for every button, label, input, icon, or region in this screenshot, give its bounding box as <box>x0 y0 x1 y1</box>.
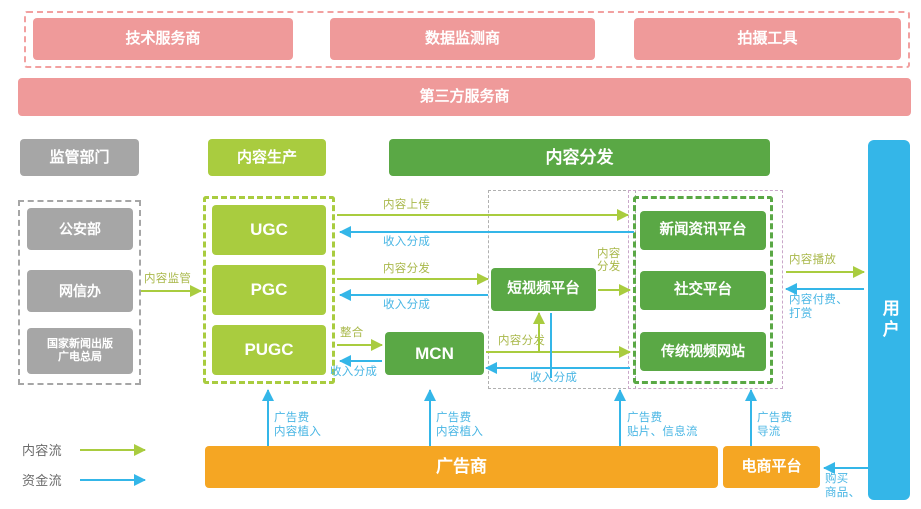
edge-label-ad-fee-embed-2: 广告费 内容植入 <box>436 411 483 440</box>
content-production-label-ugc: UGC <box>250 220 288 240</box>
edge-label-ad-fee-embed-1: 广告费 内容植入 <box>274 411 321 440</box>
third-party-box-shooting-tools[interactable]: 拍摄工具 <box>634 18 901 60</box>
ecommerce-label: 电商平台 <box>741 458 801 475</box>
edge-label-rev-share-3: 收入分成 <box>330 365 377 379</box>
user-bar[interactable]: 用户 <box>868 140 910 500</box>
third-party-band[interactable]: 第三方服务商 <box>18 78 911 116</box>
edge-label-distribute-2: 内容 分发 <box>597 248 621 274</box>
edge-label-rev-share-4: 收入分成 <box>530 371 577 385</box>
regulator-label-cyberspace-admin: 网信办 <box>59 283 101 299</box>
content-production-box-pgc[interactable]: PGC <box>212 265 326 315</box>
content-production-label-pugc: PUGC <box>244 340 293 360</box>
edge-label-distribute-3: 内容分发 <box>498 334 545 348</box>
platform-label-news: 新闻资讯平台 <box>660 222 747 239</box>
regulator-box-public-security[interactable]: 公安部 <box>27 208 133 250</box>
content-distribution-header[interactable]: 内容分发 <box>389 139 770 176</box>
edge-label-pay-tip: 内容付费、 打赏 <box>789 293 848 322</box>
regulator-label-nrta: 国家新闻出版 广电总局 <box>47 338 113 363</box>
regulator-box-nrta[interactable]: 国家新闻出版 广电总局 <box>27 328 133 374</box>
content-production-header-label: 内容生产 <box>237 149 297 166</box>
third-party-box-tech-service[interactable]: 技术服务商 <box>33 18 293 60</box>
edge-label-distribute-1: 内容分发 <box>383 262 430 276</box>
regulators-header-label: 监管部门 <box>49 149 109 166</box>
mcn-label: MCN <box>415 344 454 364</box>
edge-label-integrate: 整合 <box>340 326 364 340</box>
third-party-label-data-monitor: 数据监测商 <box>425 30 500 47</box>
content-production-box-pugc[interactable]: PUGC <box>212 325 326 375</box>
regulator-label-public-security: 公安部 <box>59 221 101 237</box>
ecommerce-box[interactable]: 电商平台 <box>723 446 820 488</box>
legend-label-capital-flow: 资金流 <box>22 473 62 489</box>
platform-box-news[interactable]: 新闻资讯平台 <box>640 211 766 250</box>
edge-label-ad-fee-stream: 广告费 贴片、信息流 <box>627 411 698 440</box>
legend-label-content-flow: 内容流 <box>22 443 62 459</box>
third-party-label-tech-service: 技术服务商 <box>125 30 200 47</box>
regulator-box-cyberspace-admin[interactable]: 网信办 <box>27 270 133 312</box>
edge-label-playback: 内容播放 <box>789 253 836 267</box>
edge-label-ad-fee-traffic: 广告费 导流 <box>757 411 792 440</box>
edge-label-purchase: 购买 商品、 <box>825 472 860 501</box>
platform-label-social: 社交平台 <box>674 282 732 299</box>
regulators-header[interactable]: 监管部门 <box>20 139 139 176</box>
platform-box-social[interactable]: 社交平台 <box>640 271 766 310</box>
short-video-platform-label: 短视频平台 <box>507 281 580 298</box>
edge-label-rev-share-1: 收入分成 <box>383 235 430 249</box>
advertiser-label: 广告商 <box>436 457 487 477</box>
mcn-box[interactable]: MCN <box>385 332 484 375</box>
platform-label-traditional-video: 传统视频网站 <box>661 343 745 359</box>
third-party-box-data-monitor[interactable]: 数据监测商 <box>330 18 595 60</box>
content-production-box-ugc[interactable]: UGC <box>212 205 326 255</box>
short-video-platform-box[interactable]: 短视频平台 <box>491 268 596 311</box>
edge-label-upload: 内容上传 <box>383 198 430 212</box>
user-label: 用户 <box>879 299 899 341</box>
advertiser-box[interactable]: 广告商 <box>205 446 718 488</box>
content-production-header[interactable]: 内容生产 <box>208 139 326 176</box>
third-party-label-shooting-tools: 拍摄工具 <box>737 30 797 47</box>
content-production-label-pgc: PGC <box>251 280 288 300</box>
edge-label-rev-share-2: 收入分成 <box>383 298 430 312</box>
platform-box-traditional-video[interactable]: 传统视频网站 <box>640 332 766 371</box>
diagram-canvas: 技术服务商 数据监测商 拍摄工具 第三方服务商 监管部门 公安部 网信办 国家新… <box>0 0 921 509</box>
edge-label-regulation: 内容监管 <box>144 272 191 286</box>
third-party-band-label: 第三方服务商 <box>419 88 509 105</box>
content-distribution-header-label: 内容分发 <box>546 148 614 168</box>
